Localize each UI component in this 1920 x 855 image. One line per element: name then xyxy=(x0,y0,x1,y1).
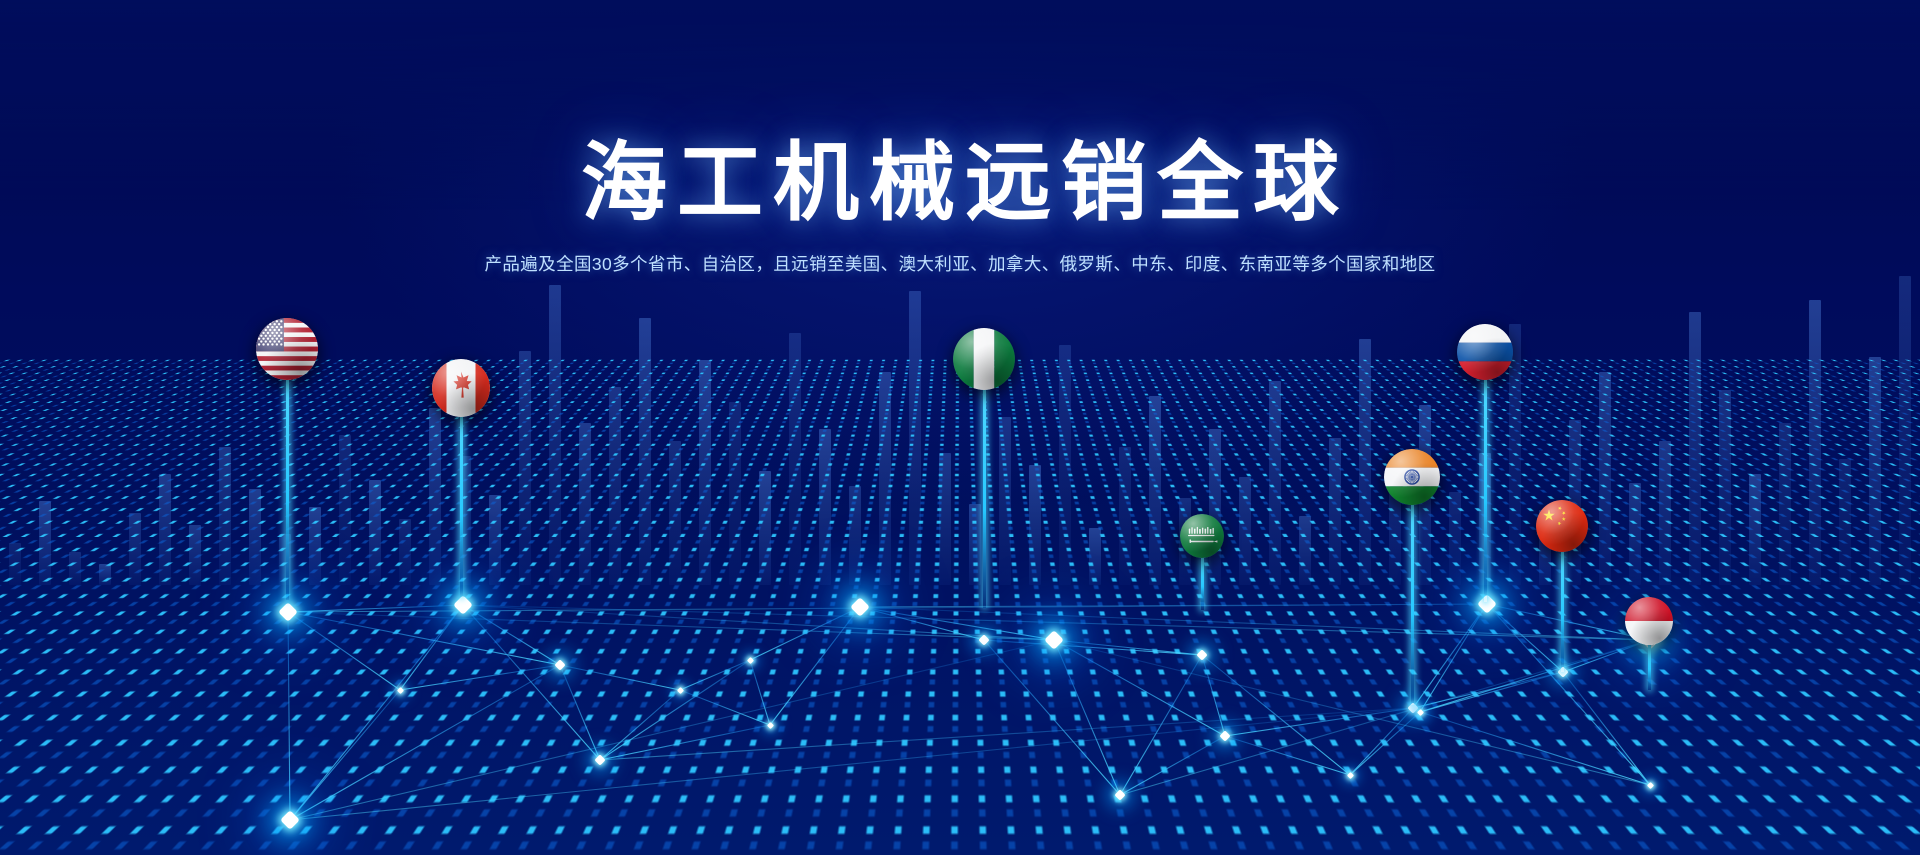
flag-id-icon[interactable] xyxy=(1625,597,1673,645)
flag-ng-icon[interactable] xyxy=(953,328,1015,390)
network-link xyxy=(600,690,680,760)
network-link-long xyxy=(463,605,1054,640)
network-link xyxy=(290,690,400,820)
network-link-long xyxy=(288,612,1054,640)
flag-us-icon[interactable] xyxy=(256,318,318,380)
network-link xyxy=(1225,736,1350,775)
network-link xyxy=(1350,712,1420,775)
network-link xyxy=(860,607,1054,640)
network-link-long xyxy=(600,708,1413,760)
network-link xyxy=(400,665,560,690)
flag-sa-icon[interactable] xyxy=(1180,514,1224,558)
flag-cn-icon[interactable] xyxy=(1536,500,1588,552)
network-link xyxy=(770,607,860,725)
network-link xyxy=(560,665,600,760)
network-link xyxy=(1420,640,1650,712)
network-link-long xyxy=(290,640,1054,820)
page-subtitle: 产品遍及全国30多个省市、自治区，且远销至美国、澳大利亚、加拿大、俄罗斯、中东、… xyxy=(0,256,1920,274)
pin-stem-ca xyxy=(460,417,463,597)
network-link xyxy=(1487,604,1650,785)
network-link xyxy=(1120,736,1225,795)
pin-stem-cn xyxy=(1561,552,1564,672)
network-link xyxy=(680,690,770,725)
network-link xyxy=(680,660,750,690)
network-link xyxy=(1120,655,1202,795)
network-link xyxy=(288,612,290,820)
pin-stem-ng xyxy=(983,390,986,608)
network-link xyxy=(1225,708,1413,736)
network-link xyxy=(750,660,770,725)
network-link xyxy=(1420,712,1650,785)
page-title: 海工机械远销全球 xyxy=(0,140,1920,226)
hero-banner: 海工机械远销全球 产品遍及全国30多个省市、自治区，且远销至美国、澳大利亚、加拿… xyxy=(0,0,1920,855)
flag-ca-icon[interactable] xyxy=(432,359,490,417)
headline-block: 海工机械远销全球 产品遍及全国30多个省市、自治区，且远销至美国、澳大利亚、加拿… xyxy=(0,140,1920,274)
network-link xyxy=(1563,672,1650,785)
pin-stem-in xyxy=(1411,505,1414,705)
network-link xyxy=(1563,640,1650,672)
pin-stem-id xyxy=(1648,645,1651,690)
network-link xyxy=(290,605,463,820)
network-link xyxy=(288,612,400,690)
network-link xyxy=(984,640,1202,655)
flag-in-icon[interactable] xyxy=(1384,449,1440,505)
network-link-long xyxy=(1120,640,1650,795)
network-link xyxy=(463,605,600,760)
pin-stem-sa xyxy=(1201,558,1204,610)
network-link xyxy=(1054,640,1120,795)
network-link-long xyxy=(290,708,1413,820)
network-link xyxy=(984,640,1120,795)
flag-ru-icon[interactable] xyxy=(1457,324,1513,380)
network-link xyxy=(1202,655,1225,736)
pin-stem-us xyxy=(286,380,289,600)
network-link xyxy=(1202,655,1350,775)
network-link-long xyxy=(463,605,1650,640)
pin-stem-ru xyxy=(1484,380,1487,602)
network-link xyxy=(560,665,680,690)
network-link xyxy=(1487,604,1563,672)
